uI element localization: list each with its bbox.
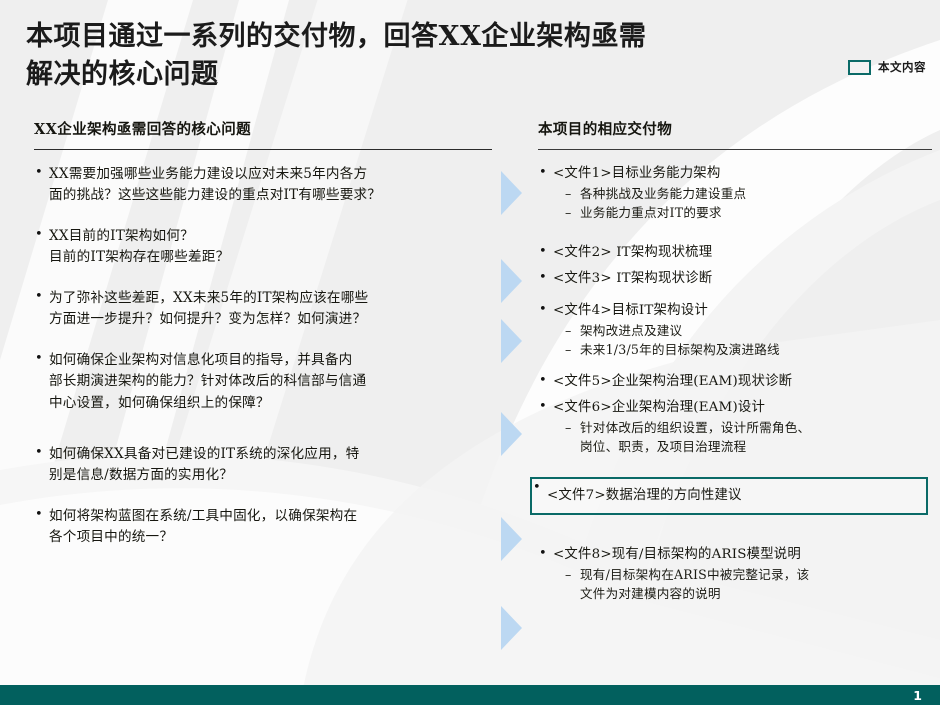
left-question-text: 如何确保XX具备对已建设的IT系统的深化应用，特 别是信息/数据方面的实用化？ (49, 444, 492, 486)
deliverable-sub-item: 未来1/3/5年的目标架构及演进路线 (565, 341, 932, 360)
deliverable-item: <文件6>企业架构治理(EAM)设计针对体改后的组织设置，设计所需角色、 岗位、… (538, 398, 932, 457)
deliverable-title: <文件5>企业架构治理(EAM)现状诊断 (553, 372, 932, 392)
right-deliverable-list: <文件1>目标业务能力架构各种挑战及业务能力建设重点业务能力重点对IT的要求<文… (538, 164, 932, 604)
left-question-text: 如何将架构蓝图在系统/工具中固化，以确保架构在 各个项目中的统一？ (49, 506, 492, 548)
deliverable-sub-item: 现有/目标架构在ARIS中被完整记录，该 文件为对建模内容的说明 (565, 566, 932, 604)
arrow-connector-6 (500, 605, 523, 651)
left-question-item: XX目前的IT架构如何？ 目前的IT架构存在哪些差距？ (34, 226, 492, 268)
right-column-heading: 本项目的相应交付物 (538, 118, 932, 139)
deliverable-title: <文件1>目标业务能力架构 (553, 164, 932, 184)
left-question-text: 如何确保企业架构对信息化项目的指导，并具备内 部长期演进架构的能力？针对体改后的… (49, 350, 492, 413)
square-outline-icon (848, 60, 871, 75)
left-question-text: XX目前的IT架构如何？ 目前的IT架构存在哪些差距？ (49, 226, 492, 268)
right-column: 本项目的相应交付物 <文件1>目标业务能力架构各种挑战及业务能力建设重点业务能力… (538, 118, 932, 610)
deliverable-title: <文件7>数据治理的方向性建议 (547, 486, 916, 506)
legend-label: 本文内容 (878, 59, 926, 75)
left-column: XX企业架构亟需回答的核心问题 XX需要加强哪些业务能力建设以应对未来5年内各方… (34, 118, 492, 568)
deliverable-item: <文件2> IT架构现状梳理 (538, 243, 932, 263)
deliverable-title: <文件2> IT架构现状梳理 (553, 243, 932, 263)
deliverable-sub-item: 业务能力重点对IT的要求 (565, 204, 932, 223)
footer-bar (0, 685, 940, 705)
deliverable-sub-item: 架构改进点及建议 (565, 322, 932, 341)
deliverable-sub-list: 现有/目标架构在ARIS中被完整记录，该 文件为对建模内容的说明 (553, 566, 932, 604)
slide-canvas: 本项目通过一系列的交付物，回答XX企业架构亟需 解决的核心问题 本文内容 XX企… (0, 0, 940, 705)
deliverable-title: <文件6>企业架构治理(EAM)设计 (553, 398, 932, 418)
deliverable-item-highlighted: <文件7>数据治理的方向性建议 (530, 477, 928, 515)
left-question-list: XX需要加强哪些业务能力建设以应对未来5年内各方 面的挑战？这些这些能力建设的重… (34, 164, 492, 548)
deliverable-sub-list: 架构改进点及建议未来1/3/5年的目标架构及演进路线 (553, 322, 932, 360)
left-column-divider (34, 149, 492, 150)
deliverable-sub-item: 针对体改后的组织设置，设计所需角色、 岗位、职责，及项目治理流程 (565, 419, 932, 457)
page-title: 本项目通过一系列的交付物，回答XX企业架构亟需 解决的核心问题 (26, 18, 826, 95)
left-question-text: XX需要加强哪些业务能力建设以应对未来5年内各方 面的挑战？这些这些能力建设的重… (49, 164, 492, 206)
arrow-connector-1 (500, 170, 523, 216)
deliverable-title: <文件3> IT架构现状诊断 (553, 269, 932, 289)
page-number: 1 (913, 688, 922, 703)
legend-badge: 本文内容 (848, 59, 926, 75)
left-question-text: 为了弥补这些差距，XX未来5年的IT架构应该在哪些 方面进一步提升？如何提升？变… (49, 288, 492, 330)
deliverable-item: <文件1>目标业务能力架构各种挑战及业务能力建设重点业务能力重点对IT的要求 (538, 164, 932, 223)
arrow-connector-2 (500, 258, 523, 304)
left-question-item: XX需要加强哪些业务能力建设以应对未来5年内各方 面的挑战？这些这些能力建设的重… (34, 164, 492, 206)
left-question-item: 如何确保XX具备对已建设的IT系统的深化应用，特 别是信息/数据方面的实用化？ (34, 444, 492, 486)
left-question-item: 如何将架构蓝图在系统/工具中固化，以确保架构在 各个项目中的统一？ (34, 506, 492, 548)
deliverable-item: <文件3> IT架构现状诊断 (538, 269, 932, 289)
deliverable-item: <文件4>目标IT架构设计架构改进点及建议未来1/3/5年的目标架构及演进路线 (538, 301, 932, 360)
deliverable-sub-item: 各种挑战及业务能力建设重点 (565, 185, 932, 204)
left-question-item: 为了弥补这些差距，XX未来5年的IT架构应该在哪些 方面进一步提升？如何提升？变… (34, 288, 492, 330)
left-question-item: 如何确保企业架构对信息化项目的指导，并具备内 部长期演进架构的能力？针对体改后的… (34, 350, 492, 413)
deliverable-title: <文件4>目标IT架构设计 (553, 301, 932, 321)
deliverable-sub-list: 各种挑战及业务能力建设重点业务能力重点对IT的要求 (553, 185, 932, 223)
arrow-connector-4 (500, 411, 523, 457)
arrow-connector-3 (500, 318, 523, 364)
left-column-heading: XX企业架构亟需回答的核心问题 (34, 118, 492, 139)
deliverable-title: <文件8>现有/目标架构的ARIS模型说明 (553, 545, 932, 565)
arrow-connector-5 (500, 516, 523, 562)
deliverable-item: <文件5>企业架构治理(EAM)现状诊断 (538, 372, 932, 392)
right-column-divider (538, 149, 932, 150)
deliverable-item: <文件8>现有/目标架构的ARIS模型说明现有/目标架构在ARIS中被完整记录，… (538, 545, 932, 604)
deliverable-sub-list: 针对体改后的组织设置，设计所需角色、 岗位、职责，及项目治理流程 (553, 419, 932, 457)
